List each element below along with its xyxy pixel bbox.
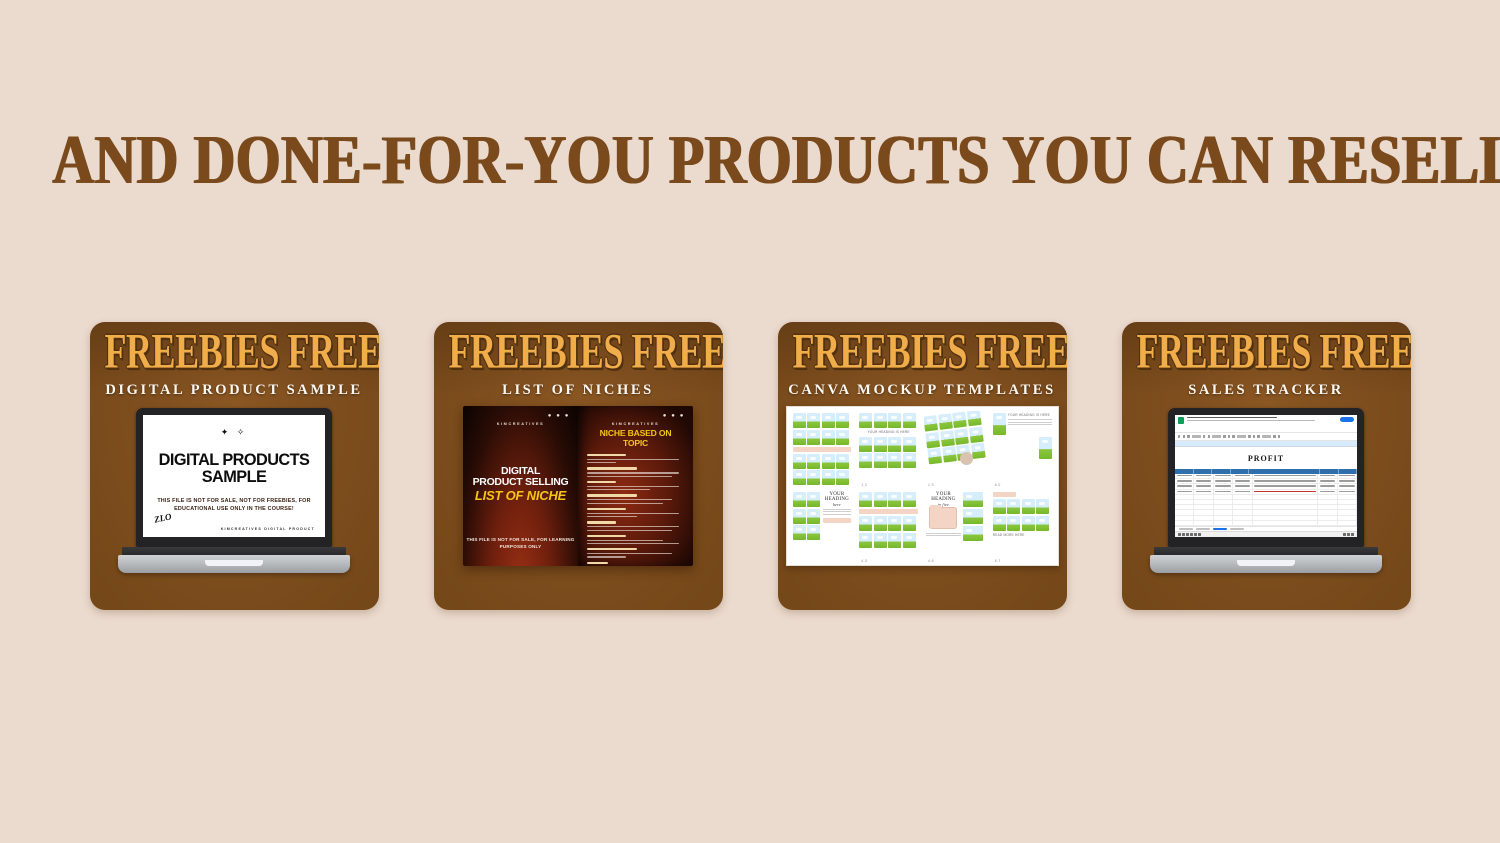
seal-icon — [960, 452, 973, 465]
book-page-heading: NICHE BASED ON TOPIC — [587, 428, 684, 448]
accent-bar — [993, 492, 1017, 497]
mockup-thumb[interactable]: YOUR HEADING in five 4.6 — [924, 490, 987, 563]
mockup-grid: YOUR HEADING IS HERE 1.2 1.9 — [786, 406, 1059, 566]
tile-group — [993, 499, 1052, 531]
card-subtitle: SALES TRACKER — [1122, 382, 1411, 399]
mockup-label: 6.7 — [995, 559, 1001, 563]
product-card-sales-tracker[interactable]: FREEBIES FREEBIES FREEBIES SALES TRACKER — [1122, 322, 1411, 610]
mockup-label: 4.3 — [861, 559, 867, 563]
book-disclaimer: THIS FILE IS NOT FOR SALE, FOR LEARNING … — [463, 536, 578, 550]
book-brand: KIMCREATIVES — [472, 422, 569, 426]
product-card-list-of-niches[interactable]: FREEBIES FREEBIES FREEBIES LIST OF NICHE… — [434, 322, 723, 610]
sheet-tab[interactable] — [1179, 528, 1193, 531]
tile-group — [859, 516, 918, 548]
share-button[interactable] — [1340, 417, 1354, 422]
laptop-mockup: ✦ ✧ DIGITAL PRODUCTS SAMPLE THIS FILE IS… — [118, 408, 350, 573]
mockup-thumb[interactable]: YOUR HEADING IS HERE 6.0 — [991, 411, 1054, 487]
slide-disclaimer: THIS FILE IS NOT FOR SALE, NOT FOR FREEB… — [155, 497, 313, 513]
tile-group — [793, 454, 852, 486]
laptop-lid: ✦ ✧ DIGITAL PRODUCTS SAMPLE THIS FILE IS… — [136, 408, 332, 547]
taskbar-icon[interactable] — [1190, 533, 1193, 536]
product-card-canva-mockup-templates[interactable]: FREEBIES FREEBIES FREEBIES CANVA MOCKUP … — [778, 322, 1067, 610]
os-taskbar[interactable] — [1175, 531, 1357, 537]
product-card-digital-product-sample[interactable]: FREEBIES FREEBIES FREEBIES DIGITAL PRODU… — [90, 322, 379, 610]
mockup-label: 1.9 — [928, 483, 934, 487]
slide-preview: ✦ ✧ DIGITAL PRODUCTS SAMPLE THIS FILE IS… — [143, 415, 325, 537]
product-card-row: FREEBIES FREEBIES FREEBIES DIGITAL PRODU… — [0, 322, 1500, 612]
book-page-left: ● ● ● KIMCREATIVES DIGITAL PRODUCT SELLI… — [463, 406, 578, 566]
laptop-lid: PROFIT — [1168, 408, 1364, 547]
laptop-screen: PROFIT — [1175, 415, 1357, 537]
tile-group — [793, 413, 852, 445]
spreadsheet-banner-title: PROFIT — [1175, 447, 1357, 469]
sparkle-icon: ✦ ✧ — [155, 425, 313, 439]
slide-title-line2: SAMPLE — [158, 468, 310, 485]
mockup-thumb[interactable]: 1.9 — [924, 411, 987, 487]
mockup-caption: YOUR HEADING IS HERE — [1008, 413, 1052, 418]
laptop-mockup: PROFIT — [1150, 408, 1382, 573]
tile-group — [859, 437, 918, 469]
mockup-row: YOUR HEADING IS HERE 1.2 1.9 — [791, 411, 1054, 487]
tile-group — [859, 492, 918, 507]
mockup-caption: READ MORE HERE — [993, 533, 1052, 538]
book-page-right: ● ● ● KIMCREATIVES NICHE BASED ON TOPIC — [578, 406, 693, 566]
mockup-thumb[interactable] — [791, 411, 854, 487]
laptop-base — [118, 555, 350, 573]
mockup-thumb[interactable]: YOUR HEADING IS HERE 1.2 — [857, 411, 920, 487]
book-brand: KIMCREATIVES — [587, 422, 684, 426]
spreadsheet-titlebar — [1175, 415, 1357, 433]
taskbar-icon[interactable] — [1182, 533, 1185, 536]
mockup-subheading: here — [823, 502, 852, 507]
tile-group — [924, 411, 987, 464]
book-title-italic: LIST OF NICHE — [463, 489, 578, 503]
book-cover-title: DIGITAL PRODUCT SELLING LIST OF NICHE — [463, 466, 578, 503]
mockup-label: 6.0 — [995, 483, 1001, 487]
dots-icon: ● ● ● — [548, 413, 570, 419]
taskbar-icon[interactable] — [1186, 533, 1189, 536]
taskbar-icon[interactable] — [1198, 533, 1201, 536]
freebies-banner: FREEBIES FREEBIES FREEBIES — [1136, 326, 1396, 376]
page-title: AND DONE-FOR-YOU PRODUCTS YOU CAN RESELL — [53, 126, 1448, 195]
mockup-label: 4.6 — [928, 559, 934, 563]
book-title-line2: PRODUCT SELLING — [473, 476, 569, 488]
spreadsheet-toolbar[interactable] — [1175, 433, 1357, 441]
card-subtitle: DIGITAL PRODUCT SAMPLE — [90, 382, 379, 399]
card-subtitle: CANVA MOCKUP TEMPLATES — [778, 382, 1067, 399]
accent-bar — [823, 518, 852, 523]
sheets-app-icon — [1178, 417, 1184, 424]
spreadsheet-preview: PROFIT — [1175, 415, 1357, 537]
taskbar-icon[interactable] — [1178, 533, 1181, 536]
open-book-mockup: ● ● ● KIMCREATIVES DIGITAL PRODUCT SELLI… — [463, 406, 693, 566]
taskbar-icon[interactable] — [1347, 533, 1350, 536]
book-body-text — [587, 454, 684, 566]
mockup-thumb[interactable]: 4.3 — [857, 490, 920, 563]
accent-bar — [793, 447, 852, 452]
laptop-base — [1150, 555, 1382, 573]
mockup-thumb[interactable]: READ MORE HERE 6.7 — [991, 490, 1054, 563]
mockup-heading: YOUR HEADING — [926, 492, 961, 502]
freebies-banner: FREEBIES FREEBIES FREEBIES — [448, 326, 708, 376]
sheet-tab-active[interactable] — [1213, 528, 1227, 531]
spreadsheet-title — [1187, 417, 1337, 422]
mockup-label: 1.2 — [861, 483, 867, 487]
card-subtitle: LIST OF NICHES — [434, 382, 723, 399]
slide-signature: ZLO — [153, 511, 172, 524]
sheet-tab[interactable] — [1196, 528, 1210, 531]
laptop-hinge — [1154, 547, 1378, 555]
accent-bar — [859, 509, 918, 514]
taskbar-icon[interactable] — [1351, 533, 1354, 536]
mockup-thumb[interactable]: YOUR HEADING here — [791, 490, 854, 563]
taskbar-icon[interactable] — [1194, 533, 1197, 536]
dots-icon: ● ● ● — [663, 413, 685, 419]
slide-footer: KIMCREATIVES DIGITAL PRODUCT — [221, 527, 315, 531]
sheet-tab[interactable] — [1230, 528, 1244, 531]
mockup-heading: YOUR HEADING — [823, 492, 852, 502]
taskbar-icon[interactable] — [1343, 533, 1346, 536]
mockup-row: YOUR HEADING here — [791, 490, 1054, 563]
mockup-caption: YOUR HEADING IS HERE — [859, 430, 918, 435]
freebies-banner: FREEBIES FREEBIES FREEBIES — [104, 326, 364, 376]
folder-icon — [929, 507, 957, 529]
laptop-screen: ✦ ✧ DIGITAL PRODUCTS SAMPLE THIS FILE IS… — [143, 415, 325, 537]
freebies-banner: FREEBIES FREEBIES FREEBIES — [792, 326, 1052, 376]
tile-group — [859, 413, 918, 428]
slide-title-line1: DIGITAL PRODUCTS — [158, 451, 310, 468]
laptop-hinge — [122, 547, 346, 555]
